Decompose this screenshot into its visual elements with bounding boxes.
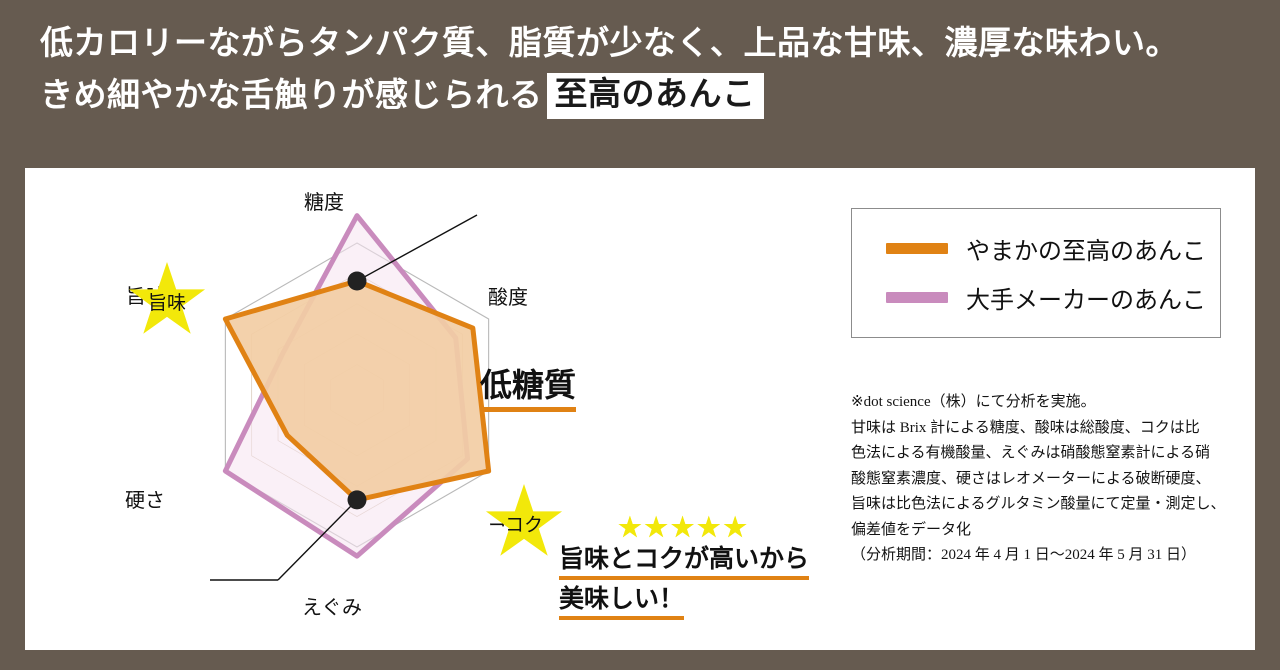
footnote-line: 甘味は Brix 計による糖度、酸味は総酸度、コクは比	[851, 416, 1251, 442]
radar-chart-area: 糖度 酸度 コク えぐみ 硬さ 旨味 旨味 コク 低糖質 えぐみが少ない ★★★…	[25, 168, 725, 650]
footnote-line: 酸態窒素濃度、硬さはレオメーターによる破断硬度、	[851, 467, 1251, 493]
chart-legend: やまかの至高のあんこ 大手メーカーのあんこ	[851, 208, 1221, 338]
legend-label-major-maker: 大手メーカーのあんこ	[966, 280, 1206, 315]
footnote-line: ※dot science（株）にて分析を実施。	[851, 390, 1251, 416]
legend-item-yamaka: やまかの至高のあんこ	[886, 231, 1220, 266]
legend-swatch-pink	[886, 292, 948, 303]
callout-umami-koku: ★★★★★ 旨味とコクが高いから 美味しい！	[559, 516, 809, 620]
star-badge-koku: コク	[485, 484, 563, 562]
star-badge-koku-label: コク	[505, 510, 543, 537]
callout-umami-line-1: 旨味とコクが高いから	[559, 545, 809, 580]
axis-label-hardness: 硬さ	[125, 484, 165, 513]
footnote-line: 旨味は比色法によるグルタミン酸量にて定量・測定し、	[851, 492, 1251, 518]
callout-umami-line-2: 美味しい！	[559, 585, 809, 620]
legend-label-yamaka: やまかの至高のあんこ	[966, 231, 1206, 266]
callout-low-sugar-text: 低糖質	[480, 360, 576, 412]
footnote-line: 偏差値をデータ化	[851, 518, 1251, 544]
headline-block: 低カロリーながらタンパク質、脂質が少なく、上品な甘味、濃厚な味わい。 きめ細やか…	[40, 18, 1240, 122]
content-card: 糖度 酸度 コク えぐみ 硬さ 旨味 旨味 コク 低糖質 えぐみが少ない ★★★…	[25, 168, 1255, 650]
analysis-footnote: ※dot science（株）にて分析を実施。 甘味は Brix 計による糖度、…	[851, 390, 1251, 569]
headline-line-2-prefix: きめ細やかな舌触りが感じられる	[40, 70, 543, 122]
headline-line-1: 低カロリーながらタンパク質、脂質が少なく、上品な甘味、濃厚な味わい。	[40, 18, 1240, 70]
legend-item-major-maker: 大手メーカーのあんこ	[886, 280, 1220, 315]
axis-label-sweetness: 糖度	[304, 186, 344, 215]
star-badge-umami: 旨味	[128, 262, 206, 340]
legend-swatch-orange	[886, 243, 948, 254]
callout-low-sugar: 低糖質	[480, 360, 576, 412]
footnote-line: 色法による有機酸量、えぐみは硝酸態窒素計による硝	[851, 441, 1251, 467]
footnote-line: （分析期間：2024 年 4 月 1 日〜2024 年 5 月 31 日）	[851, 543, 1251, 569]
star-badge-umami-label: 旨味	[148, 288, 186, 315]
headline-emphasis-badge: 至高のあんこ	[547, 73, 764, 119]
five-star-rating-icon: ★★★★★	[559, 516, 809, 540]
axis-label-acidity: 酸度	[488, 281, 528, 310]
axis-label-egumi: えぐみ	[302, 591, 362, 620]
headline-line-2: きめ細やかな舌触りが感じられる 至高のあんこ	[40, 70, 1240, 122]
